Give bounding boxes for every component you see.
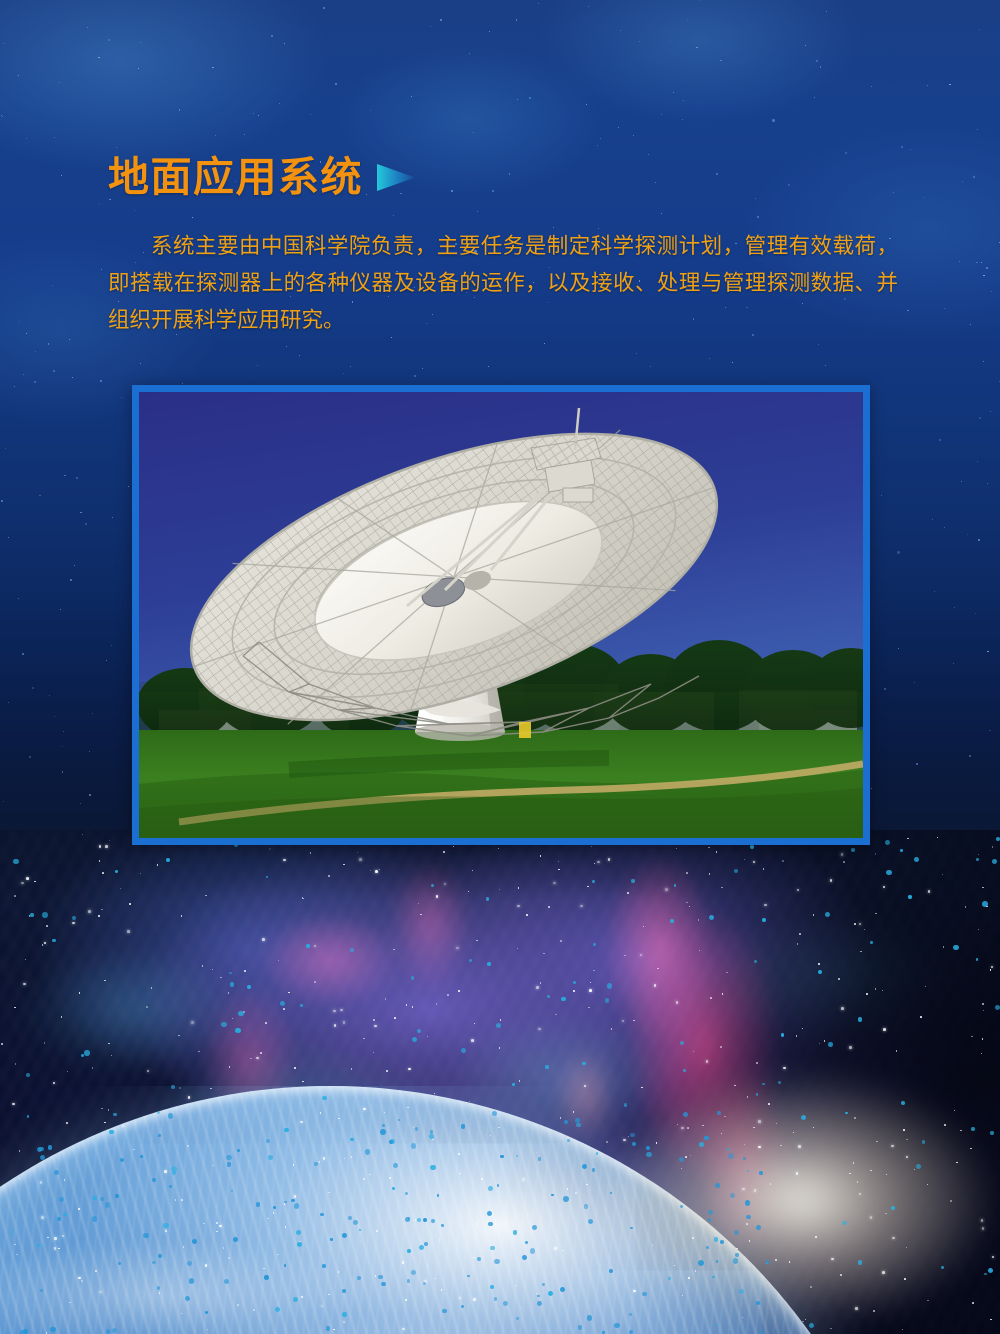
poster-page: 地面应用系统 系统主要由中国科学院负责，主要任务是制定科学探测计划，管理有效载荷… bbox=[0, 0, 1000, 1334]
body-paragraph: 系统主要由中国科学院负责，主要任务是制定科学探测计划，管理有效载荷，即搭载在探测… bbox=[108, 228, 898, 339]
radio-telescope-illustration bbox=[139, 392, 863, 838]
earth-atmosphere-rim bbox=[0, 1086, 920, 1334]
page-title-row: 地面应用系统 bbox=[108, 157, 417, 198]
earth-limb bbox=[0, 1086, 920, 1334]
radio-telescope-photo bbox=[139, 392, 863, 838]
radio-telescope-photo-frame bbox=[132, 385, 870, 845]
earth-sphere bbox=[0, 1086, 920, 1334]
page-title: 地面应用系统 bbox=[108, 157, 363, 198]
triangle-right-icon bbox=[377, 163, 417, 192]
